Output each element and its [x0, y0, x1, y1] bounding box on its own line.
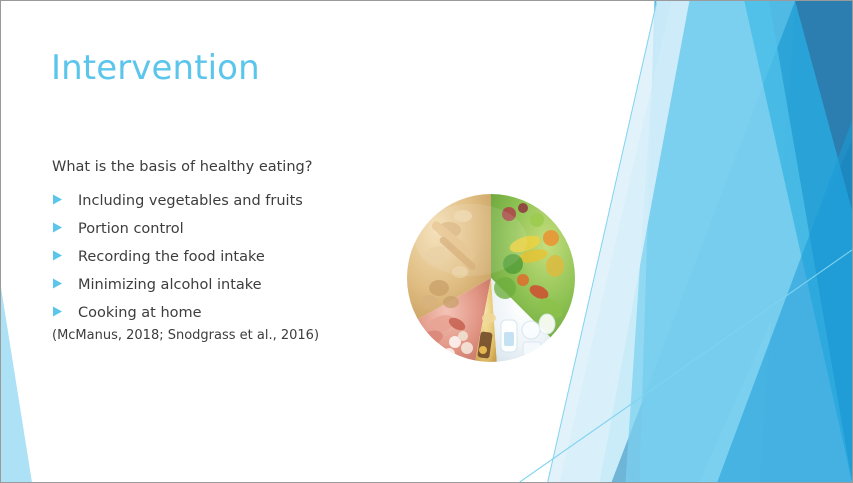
list-item: Minimizing alcohol intake [52, 268, 382, 296]
bullet-label: Cooking at home [78, 299, 202, 327]
list-item: Cooking at home [52, 296, 382, 324]
bullet-label: Portion control [78, 215, 184, 243]
triangle-right-icon [52, 268, 78, 289]
slide-body: What is the basis of healthy eating? Inc… [52, 156, 382, 346]
triangle-right-icon [52, 212, 78, 233]
deco-left-wedge [1, 288, 32, 482]
citation-text: (McManus, 2018; Snodgrass et al., 2016) [52, 326, 382, 346]
deco-band-light [560, 1, 852, 482]
deco-band-cyan [639, 1, 852, 482]
plate-graphic [405, 192, 577, 364]
deco-band-mid [626, 1, 852, 482]
bullet-list: Including vegetables and fruits Portion … [52, 184, 382, 324]
healthy-eating-plate-image [405, 192, 577, 364]
triangle-right-icon [52, 184, 78, 205]
triangle-right-icon [52, 240, 78, 261]
deco-band-inner-cyan [717, 121, 852, 482]
presentation-slide: Intervention What is the basis of health… [0, 0, 853, 483]
list-item: Including vegetables and fruits [52, 184, 382, 212]
deco-band-dark [612, 1, 852, 482]
list-item: Portion control [52, 212, 382, 240]
lead-question: What is the basis of healthy eating? [52, 156, 382, 178]
bullet-label: Including vegetables and fruits [78, 187, 303, 215]
triangle-right-icon [52, 296, 78, 317]
list-item: Recording the food intake [52, 240, 382, 268]
bullet-label: Minimizing alcohol intake [78, 271, 262, 299]
bullet-label: Recording the food intake [78, 243, 265, 271]
slide-title: Intervention [51, 45, 260, 91]
deco-band-darkest [759, 1, 852, 482]
